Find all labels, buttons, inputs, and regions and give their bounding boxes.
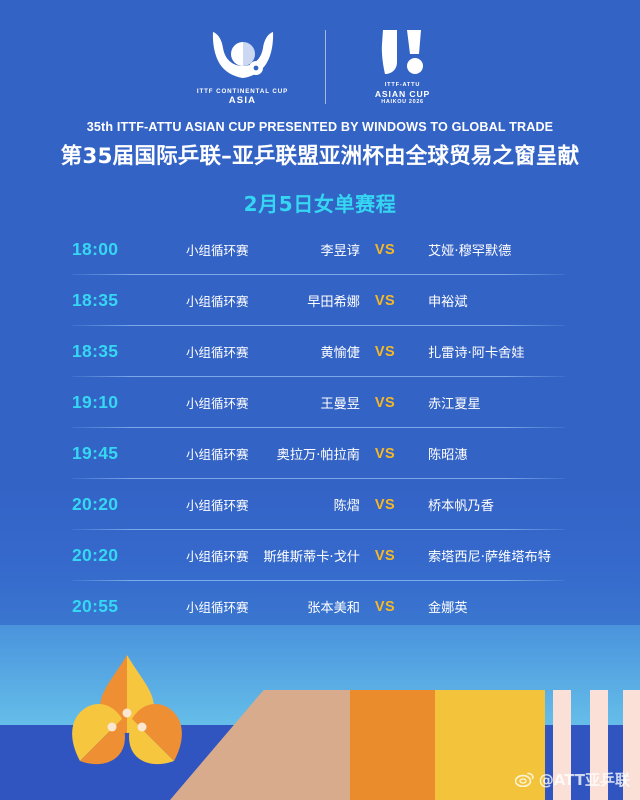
logo-bar: ITTF CONTINENTAL CUP ASIA ITTF-ATTU ASIA… — [0, 28, 640, 116]
orange-block-shape — [350, 690, 435, 800]
table-row[interactable]: 19:10小组循环赛王曼昱VS赤江夏星 — [0, 377, 640, 428]
right-logo-line3: HAIKOU 2026 — [348, 99, 458, 105]
match-stage: 小组循环赛 — [186, 240, 249, 259]
match-time: 20:20 — [72, 545, 164, 566]
player-two: 索塔西尼·萨维塔布特 — [428, 546, 551, 565]
vs-label: VS — [368, 599, 402, 615]
match-time: 18:35 — [72, 290, 164, 311]
match-stage: 小组循环赛 — [186, 444, 249, 463]
right-logo-line1: ITTF-ATTU — [348, 82, 458, 89]
vs-label: VS — [368, 344, 402, 360]
asian-cup-mark-icon — [377, 28, 429, 80]
match-time: 19:45 — [72, 443, 164, 464]
match-time: 19:10 — [72, 392, 164, 413]
player-one: 张本美和 — [307, 597, 360, 616]
table-row[interactable]: 20:20小组循环赛斯维斯蒂卡·戈什VS索塔西尼·萨维塔布特 — [0, 530, 640, 581]
table-row[interactable]: 19:45小组循环赛奥拉万·帕拉南VS陈昭潓 — [0, 428, 640, 479]
left-logo-text: ITTF CONTINENTAL CUP ASIA — [183, 88, 303, 107]
page-title: 2月5日女单赛程 — [0, 188, 640, 217]
poster-footer-artwork: @ATT亚乒联 — [0, 625, 640, 800]
weibo-icon — [515, 772, 534, 787]
match-stage: 小组循环赛 — [186, 495, 249, 514]
match-stage: 小组循环赛 — [186, 597, 249, 616]
vs-label: VS — [368, 548, 402, 564]
player-one: 李昱谆 — [320, 240, 360, 259]
match-time: 20:20 — [72, 494, 164, 515]
match-time: 18:00 — [72, 239, 164, 260]
right-logo-line2: ASIAN CUP — [348, 89, 458, 99]
right-logo-text: ITTF-ATTU ASIAN CUP HAIKOU 2026 — [348, 82, 458, 105]
vs-label: VS — [368, 497, 402, 513]
player-one: 斯维斯蒂卡·戈什 — [263, 546, 360, 565]
table-row[interactable]: 18:35小组循环赛早田希娜VS申裕斌 — [0, 275, 640, 326]
bougainvillea-flower-icon — [62, 653, 192, 773]
player-one: 奥拉万·帕拉南 — [277, 444, 360, 463]
headline-chinese: 第35届国际乒联–亚乒联盟亚洲杯由全球贸易之窗呈献 — [0, 139, 640, 170]
match-time: 20:55 — [72, 596, 164, 617]
weibo-watermark: @ATT亚乒联 — [515, 769, 630, 790]
vs-label: VS — [368, 293, 402, 309]
ittf-attu-asian-cup-logo: ITTF-ATTU ASIAN CUP HAIKOU 2026 — [348, 28, 458, 116]
headline-block: 35th ITTF-ATTU ASIAN CUP PRESENTED BY WI… — [0, 120, 640, 217]
match-time: 18:35 — [72, 341, 164, 362]
table-row[interactable]: 18:35小组循环赛黄愉倢VS扎雷诗·阿卡舍娃 — [0, 326, 640, 377]
match-stage: 小组循环赛 — [186, 291, 249, 310]
left-logo-line1: ITTF CONTINENTAL CUP — [183, 88, 303, 95]
player-two: 桥本帆乃香 — [428, 495, 494, 514]
left-logo-line2: ASIA — [183, 95, 303, 106]
player-one: 早田希娜 — [307, 291, 360, 310]
weibo-handle: @ATT亚乒联 — [539, 769, 630, 790]
vs-label: VS — [368, 395, 402, 411]
player-two: 金娜英 — [428, 597, 468, 616]
match-stage: 小组循环赛 — [186, 342, 249, 361]
match-schedule-list: 18:00小组循环赛李昱谆VS艾娅·穆罕默德18:35小组循环赛早田希娜VS申裕… — [0, 224, 640, 632]
headline-english: 35th ITTF-ATTU ASIAN CUP PRESENTED BY WI… — [0, 120, 640, 134]
player-one: 陈熠 — [334, 495, 360, 514]
player-two: 申裕斌 — [428, 291, 468, 310]
vs-label: VS — [368, 446, 402, 462]
match-stage: 小组循环赛 — [186, 393, 249, 412]
asian-cup-schedule-poster: ITTF CONTINENTAL CUP ASIA ITTF-ATTU ASIA… — [0, 0, 640, 800]
table-row[interactable]: 18:00小组循环赛李昱谆VS艾娅·穆罕默德 — [0, 224, 640, 275]
player-two: 陈昭潓 — [428, 444, 468, 463]
player-two: 赤江夏星 — [428, 393, 481, 412]
logo-divider — [325, 30, 326, 104]
continental-cup-mark-icon — [207, 28, 279, 86]
ittf-continental-cup-asia-logo: ITTF CONTINENTAL CUP ASIA — [183, 28, 303, 116]
player-one: 黄愉倢 — [320, 342, 360, 361]
player-one: 王曼昱 — [320, 393, 360, 412]
vs-label: VS — [368, 242, 402, 258]
player-two: 扎雷诗·阿卡舍娃 — [428, 342, 525, 361]
table-row[interactable]: 20:20小组循环赛陈熠VS桥本帆乃香 — [0, 479, 640, 530]
player-two: 艾娅·穆罕默德 — [428, 240, 511, 259]
match-stage: 小组循环赛 — [186, 546, 249, 565]
